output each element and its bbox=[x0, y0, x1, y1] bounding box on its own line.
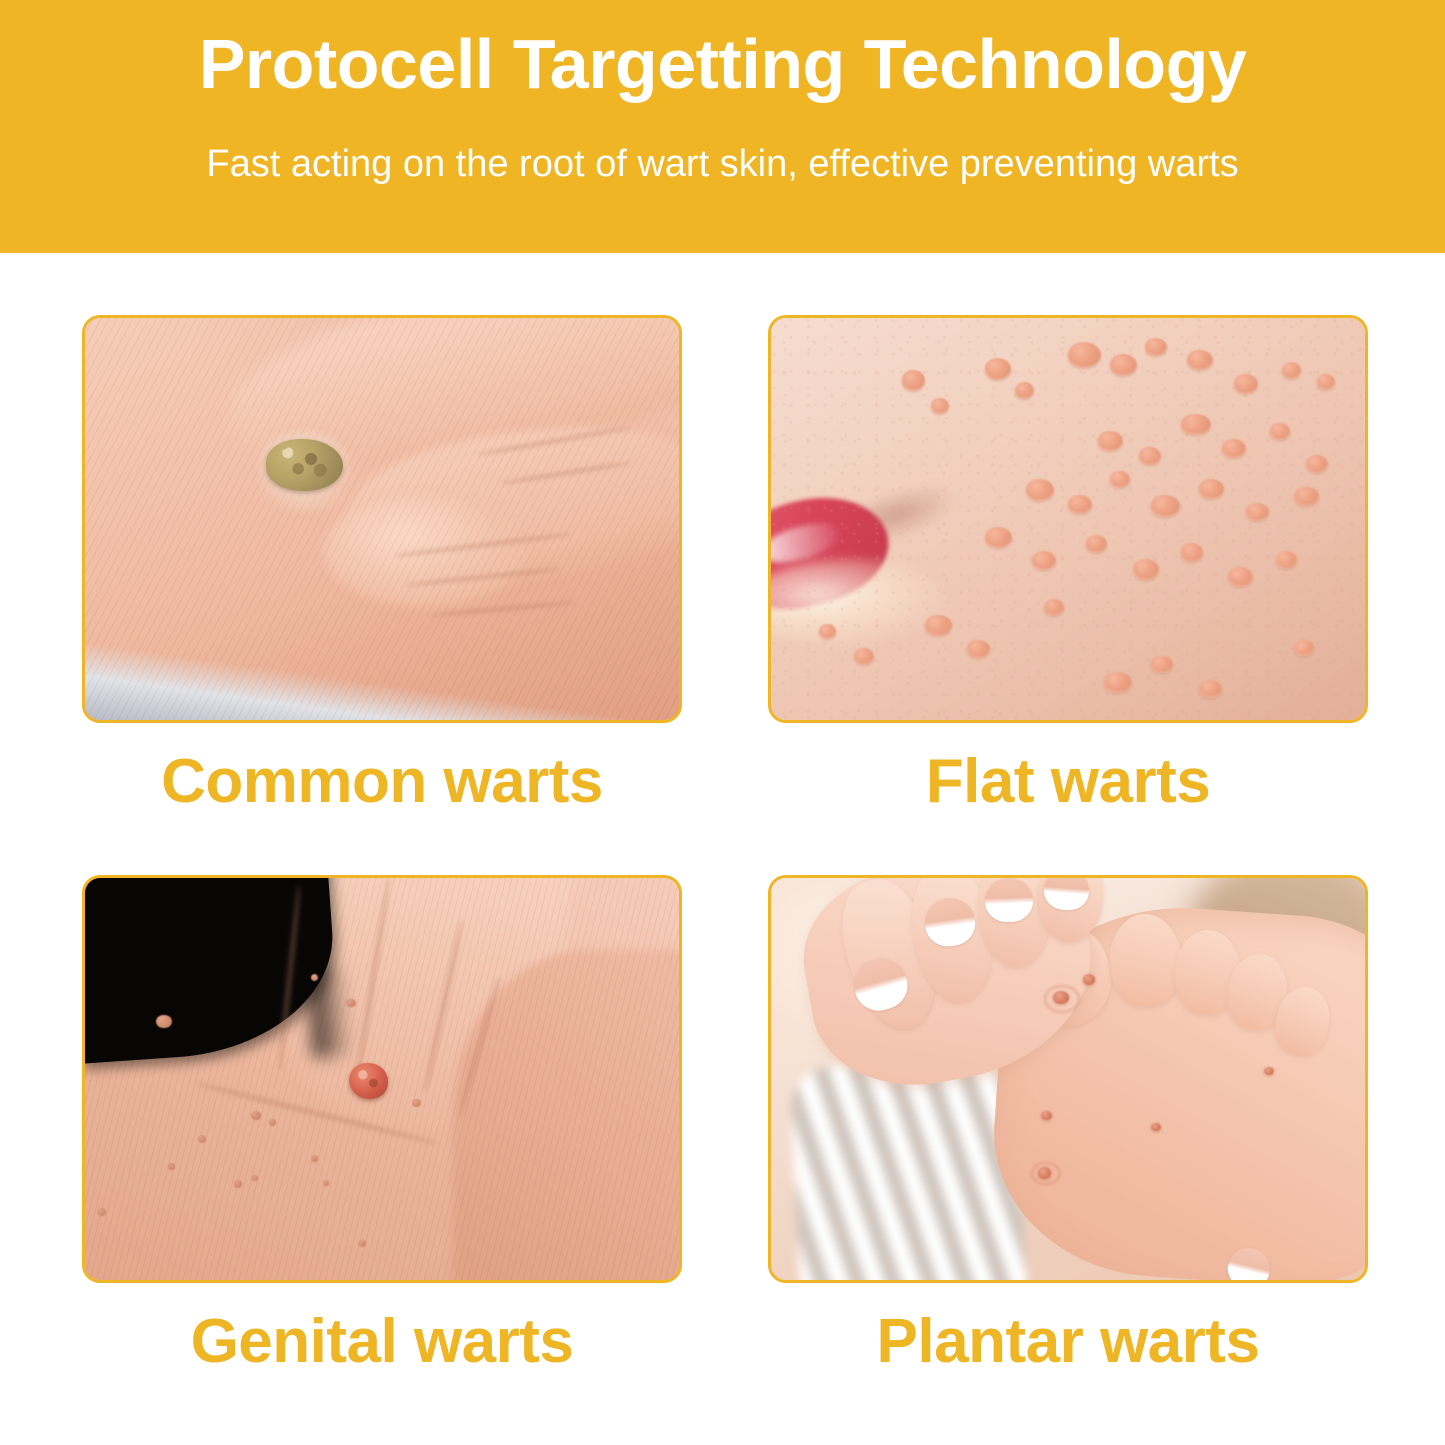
page-title: Protocell Targetting Technology bbox=[199, 28, 1247, 102]
flat-warts-photo bbox=[771, 318, 1365, 720]
flat-warts-photo-card bbox=[768, 315, 1368, 723]
genital-warts-photo-card bbox=[82, 875, 682, 1283]
common-warts-photo-card bbox=[82, 315, 682, 723]
card-label-plantar-warts: Plantar warts bbox=[768, 1309, 1368, 1374]
wart-types-grid: Common warts bbox=[82, 315, 1364, 1425]
infographic-page: Protocell Targetting Technology Fast act… bbox=[0, 0, 1445, 1445]
genital-warts-photo bbox=[85, 878, 679, 1280]
page-subtitle: Fast acting on the root of wart skin, ef… bbox=[206, 144, 1238, 186]
wart-card-flat: Flat warts bbox=[768, 315, 1368, 814]
wart-card-common: Common warts bbox=[82, 315, 682, 814]
plantar-warts-photo-card bbox=[768, 875, 1368, 1283]
wart-card-genital: Genital warts bbox=[82, 875, 682, 1374]
card-label-common-warts: Common warts bbox=[82, 749, 682, 814]
common-warts-photo bbox=[85, 318, 679, 720]
plantar-warts-photo bbox=[771, 878, 1365, 1280]
card-label-flat-warts: Flat warts bbox=[768, 749, 1368, 814]
card-label-genital-warts: Genital warts bbox=[82, 1309, 682, 1374]
header-banner: Protocell Targetting Technology Fast act… bbox=[0, 0, 1445, 253]
wart-card-plantar: Plantar warts bbox=[768, 875, 1368, 1374]
